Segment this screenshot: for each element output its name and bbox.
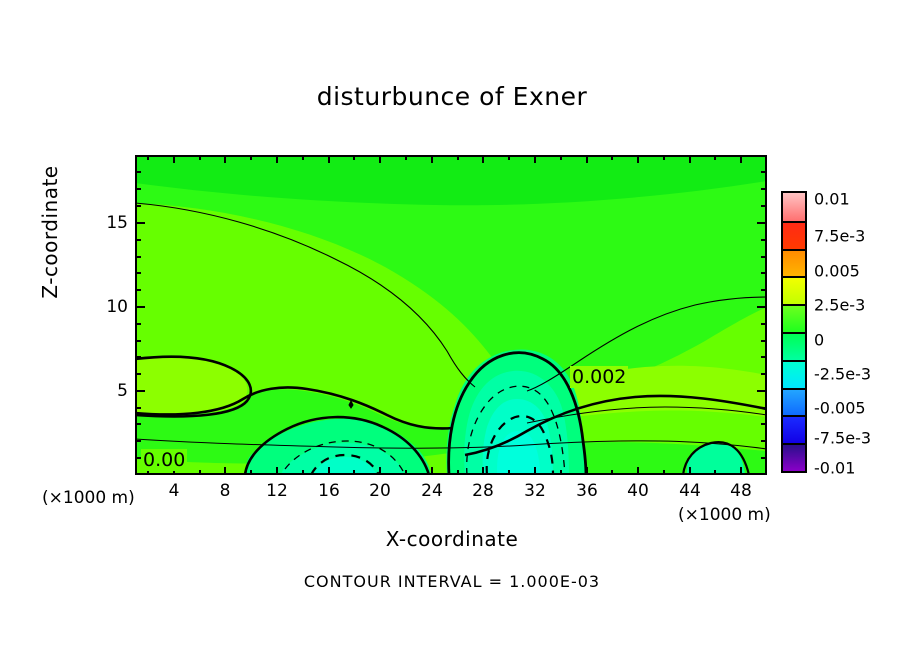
x-tick-label: 20: [369, 481, 391, 501]
y-tick-label: 10: [94, 297, 128, 317]
colorbar-band: [783, 360, 805, 388]
x-tick-label: 28: [472, 481, 494, 501]
y-tick-label: 5: [94, 381, 128, 401]
colorbar-label: -0.005: [814, 399, 866, 418]
colorbar-band: [783, 388, 805, 416]
colorbar-band: [783, 276, 805, 304]
x-tick-label: 48: [730, 481, 752, 501]
contour-canvas: [135, 155, 767, 475]
colorbar-label: 0.01: [814, 190, 850, 209]
x-tick-label: 36: [576, 481, 598, 501]
colorbar-label: -7.5e-3: [814, 429, 871, 448]
y-axis-unit: (×1000 m): [42, 488, 135, 508]
colorbar-label: -0.01: [814, 459, 855, 478]
x-axis-title: X-coordinate: [0, 527, 904, 551]
contour-label-1: 0.002: [570, 366, 628, 388]
contour-plot-figure: disturbunce of Exner: [0, 0, 904, 654]
colorbar-band: [783, 304, 805, 332]
colorbar-label: 7.5e-3: [814, 227, 865, 246]
contour-label-0: 0.00: [141, 449, 187, 471]
y-axis-title: Z-coordinate: [38, 132, 62, 332]
colorbar-band: [783, 249, 805, 277]
colorbar-label: -2.5e-3: [814, 365, 871, 384]
colorbar-band: [783, 415, 805, 443]
x-tick-label: 32: [524, 481, 546, 501]
x-tick-label: 40: [627, 481, 649, 501]
contour-interval-caption: CONTOUR INTERVAL = 1.000E-03: [0, 572, 904, 591]
colorbar-label: 0.005: [814, 262, 860, 281]
x-tick-label: 12: [266, 481, 288, 501]
colorbar-band: [783, 443, 805, 471]
x-tick-label: 16: [318, 481, 340, 501]
plot-area: [135, 155, 767, 475]
colorbar-label: 0: [814, 331, 824, 350]
colorbar: [781, 191, 807, 473]
colorbar-band: [783, 332, 805, 360]
x-tick-label: 4: [169, 481, 180, 501]
x-tick-label: 8: [220, 481, 231, 501]
x-tick-label: 44: [679, 481, 701, 501]
y-tick-label: 15: [94, 213, 128, 233]
colorbar-band: [783, 221, 805, 249]
colorbar-band: [783, 193, 805, 221]
x-axis-unit: (×1000 m): [678, 505, 771, 525]
colorbar-label: 2.5e-3: [814, 296, 865, 315]
figure-title: disturbunce of Exner: [0, 82, 904, 111]
x-tick-label: 24: [421, 481, 443, 501]
